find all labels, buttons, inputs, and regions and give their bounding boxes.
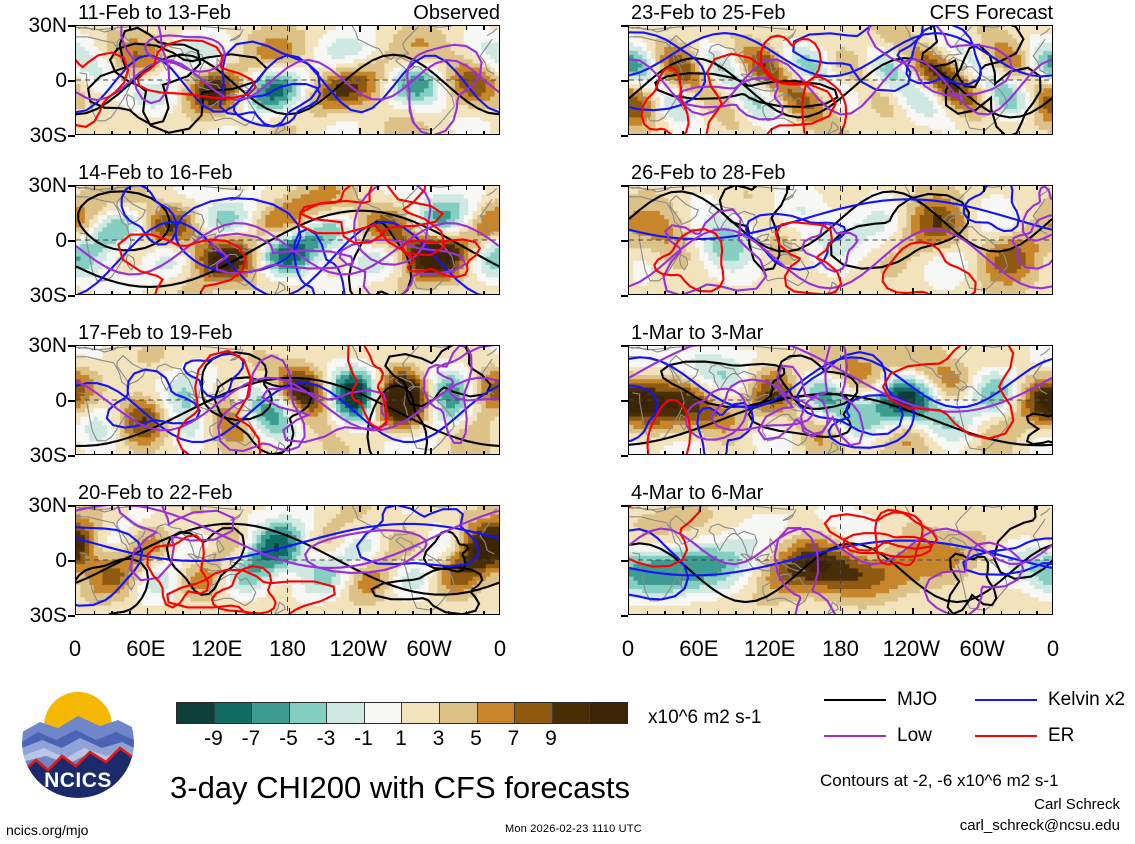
axis-tick [806,26,808,30]
axis-tick [200,186,202,190]
axis-tick [253,291,255,295]
axis-tick [771,128,773,134]
contour-note: Contours at -2, -6 x10^6 m2 s-1 [820,772,1059,789]
axis-tick [377,611,379,615]
axis-tick [965,26,967,30]
axis-tick [448,506,450,510]
axis-tick [824,186,826,190]
axis-tick [306,451,308,455]
axis-tick [948,451,950,455]
axis-tick [448,291,450,295]
axis-tick [111,26,113,30]
axis-tick [412,26,414,30]
axis-tick [771,346,773,352]
axis-tick [253,346,255,350]
axis-tick [824,451,826,455]
axis-tick [129,131,131,135]
axis-tick [448,26,450,30]
axis-tick [182,611,184,615]
axis-tick [430,506,432,512]
axis-tick [377,506,379,510]
axis-tick [289,506,291,512]
axis-tick [895,26,897,30]
axis-tick [412,346,414,350]
axis-tick [948,26,950,30]
map-canvas [75,505,500,615]
colorbar-cell [177,703,215,723]
axis-tick [664,291,666,295]
axis-tick [412,291,414,295]
axis-tick [147,608,149,614]
axis-tick [377,291,379,295]
axis-tick [342,346,344,350]
axis-tick [448,131,450,135]
axis-tick [983,346,985,352]
legend-line-swatch [975,735,1037,737]
axis-tick [165,346,167,350]
axis-tick [483,506,485,510]
axis-tick [306,291,308,295]
axis-tick [621,560,628,562]
axis-tick [359,346,361,352]
axis-tick [788,451,790,455]
axis-tick [621,345,628,347]
x-axis-label: 0 [588,638,668,660]
axis-tick [235,131,237,135]
axis-tick [700,608,702,614]
axis-tick [1001,451,1003,455]
axis-tick [111,291,113,295]
axis-tick [235,291,237,295]
axis-tick [165,611,167,615]
axis-tick [200,291,202,295]
axis-tick [682,26,684,30]
axis-tick [271,346,273,350]
axis-tick [912,608,914,614]
axis-tick [621,135,628,137]
axis-tick [753,291,755,295]
axis-tick [111,186,113,190]
axis-tick [621,505,628,507]
axis-tick [753,346,755,350]
axis-tick [412,131,414,135]
ncics-logo[interactable]: NCICS [22,686,134,798]
axis-tick [806,611,808,615]
axis-tick [448,186,450,190]
axis-tick [412,611,414,615]
axis-tick [621,240,628,242]
axis-tick [700,506,702,512]
axis-tick [182,451,184,455]
axis-tick [842,448,844,454]
main-title: 3-day CHI200 with CFS forecasts [170,772,630,803]
legend-item: Low [824,726,932,745]
axis-tick [1036,451,1038,455]
axis-tick [735,291,737,295]
axis-tick [430,26,432,32]
colorbar-cell [590,703,627,723]
colorbar-units-label: x10^6 m2 s-1 [648,708,761,727]
axis-tick [68,615,75,617]
axis-tick [448,451,450,455]
axis-tick [306,131,308,135]
axis-tick [788,346,790,350]
axis-tick [1019,346,1021,350]
axis-tick [788,186,790,190]
axis-tick [1019,291,1021,295]
axis-tick [466,26,468,30]
axis-tick [700,26,702,32]
axis-tick [94,131,96,135]
axis-tick [377,346,379,350]
axis-tick [359,506,361,512]
axis-tick [718,451,720,455]
axis-tick [182,26,184,30]
axis-tick [753,186,755,190]
axis-tick [111,611,113,615]
axis-tick [700,128,702,134]
axis-tick [289,448,291,454]
axis-tick [842,26,844,32]
map-panel: 4-Mar to 6-Mar [628,483,1053,615]
axis-tick [466,506,468,510]
axis-tick [718,506,720,510]
shaded-anomaly-field [629,506,1052,614]
x-axis-label: 120E [177,638,257,660]
x-axis-label: 60W [942,638,1022,660]
axis-tick [94,291,96,295]
axis-tick [324,611,326,615]
axis-tick [395,26,397,30]
axis-tick [466,186,468,190]
legend-label: MJO [897,690,937,709]
axis-tick [930,506,932,510]
axis-tick [430,448,432,454]
axis-tick [877,291,879,295]
shaded-anomaly-field [76,346,499,454]
x-axis-label: 180 [248,638,328,660]
axis-tick [483,186,485,190]
axis-tick [94,506,96,510]
axis-tick [930,291,932,295]
y-axis-label: 30S [3,125,67,146]
axis-tick [824,611,826,615]
axis-tick [395,611,397,615]
axis-tick [129,186,131,190]
colorbar-cell [252,703,290,723]
axis-tick [218,448,220,454]
axis-tick [682,131,684,135]
axis-tick [771,186,773,192]
axis-tick [306,26,308,30]
axis-tick [895,291,897,295]
axis-tick [306,186,308,190]
axis-tick [1001,131,1003,135]
axis-tick [912,448,914,454]
map-panel: 14-Feb to 16-Feb30N030S [75,163,500,295]
axis-tick [289,128,291,134]
axis-tick [842,346,844,352]
axis-tick [342,186,344,190]
axis-tick [111,131,113,135]
axis-tick [735,26,737,30]
axis-tick [289,26,291,32]
axis-tick [129,291,131,295]
axis-tick [1036,26,1038,30]
axis-tick [877,611,879,615]
axis-tick [877,186,879,190]
axis-tick [735,186,737,190]
axis-tick [824,26,826,30]
axis-tick [682,506,684,510]
axis-tick [324,506,326,510]
axis-tick [788,291,790,295]
axis-tick [948,506,950,510]
axis-tick [647,291,649,295]
axis-tick [912,128,914,134]
axis-tick [700,346,702,352]
axis-tick [68,25,75,27]
axis-tick [965,451,967,455]
panel-title: 23-Feb to 25-Feb [631,3,786,23]
x-axis-label: 180 [801,638,881,660]
axis-tick [621,400,628,402]
axis-tick [824,291,826,295]
axis-tick [842,608,844,614]
axis-tick [324,26,326,30]
colorbar-cell [290,703,328,723]
axis-tick [165,131,167,135]
site-url-link[interactable]: ncics.org/mjo [6,823,88,837]
y-axis-label: 30S [3,285,67,306]
axis-tick [235,506,237,510]
axis-tick [395,291,397,295]
axis-tick [859,506,861,510]
axis-tick [877,346,879,350]
axis-tick [895,346,897,350]
axis-tick [200,346,202,350]
axis-tick [324,346,326,350]
axis-tick [289,608,291,614]
axis-tick [165,291,167,295]
axis-tick [824,346,826,350]
axis-tick [448,611,450,615]
axis-tick [1001,611,1003,615]
axis-tick [1001,26,1003,30]
axis-tick [342,506,344,510]
axis-tick [718,131,720,135]
x-axis-label: 60E [106,638,186,660]
axis-tick [68,455,75,457]
axis-tick [700,186,702,192]
axis-tick [289,288,291,294]
axis-tick [859,186,861,190]
legend-label: ER [1048,726,1074,745]
axis-tick [718,291,720,295]
axis-tick [1019,26,1021,30]
axis-tick [68,400,75,402]
axis-tick [68,240,75,242]
axis-tick [842,288,844,294]
panel-title: 20-Feb to 22-Feb [78,483,233,503]
axis-tick [664,611,666,615]
axis-tick [218,608,220,614]
axis-tick [877,506,879,510]
axis-tick [483,451,485,455]
axis-tick [1019,186,1021,190]
axis-tick [877,131,879,135]
axis-tick [948,291,950,295]
axis-tick [983,506,985,512]
axis-tick [983,26,985,32]
axis-tick [235,611,237,615]
axis-tick [483,131,485,135]
axis-tick [147,506,149,512]
axis-tick [68,295,75,297]
axis-tick [735,451,737,455]
axis-tick [271,611,273,615]
axis-tick [94,26,96,30]
axis-tick [466,346,468,350]
axis-tick [771,506,773,512]
author-email: carl_schreck@ncsu.edu [860,818,1120,833]
axis-tick [965,131,967,135]
axis-tick [753,131,755,135]
y-axis-label: 0 [3,550,67,571]
axis-tick [147,128,149,134]
axis-tick [430,186,432,192]
x-axis-label: 120W [318,638,398,660]
axis-tick [359,26,361,32]
axis-tick [930,611,932,615]
author-name: Carl Schreck [900,797,1120,812]
axis-tick [430,346,432,352]
axis-tick [682,186,684,190]
axis-tick [324,186,326,190]
axis-tick [235,451,237,455]
axis-tick [983,448,985,454]
axis-tick [147,186,149,192]
axis-tick [682,346,684,350]
axis-tick [842,186,844,192]
axis-tick [68,185,75,187]
axis-tick [1001,186,1003,190]
axis-tick [806,186,808,190]
axis-tick [94,451,96,455]
axis-tick [271,451,273,455]
axis-tick [182,186,184,190]
axis-tick [165,26,167,30]
x-axis-label: 0 [35,638,115,660]
axis-tick [412,451,414,455]
axis-tick [182,506,184,510]
axis-tick [235,186,237,190]
map-canvas [628,185,1053,295]
axis-tick [218,186,220,192]
x-axis-label: 120E [730,638,810,660]
axis-tick [806,131,808,135]
x-axis-label: 60W [389,638,469,660]
legend-line-swatch [824,735,886,737]
axis-tick [664,451,666,455]
legend-line-swatch [975,699,1037,701]
axis-tick [94,186,96,190]
map-panel: 1-Mar to 3-Mar [628,323,1053,455]
legend-item: ER [975,726,1074,745]
axis-tick [359,448,361,454]
axis-tick [1019,506,1021,510]
axis-tick [735,346,737,350]
axis-tick [165,451,167,455]
axis-tick [253,451,255,455]
shaded-anomaly-field [629,186,1052,294]
axis-tick [430,608,432,614]
axis-tick [483,291,485,295]
axis-tick [359,128,361,134]
axis-tick [342,451,344,455]
axis-tick [218,506,220,512]
axis-tick [664,131,666,135]
axis-tick [1036,291,1038,295]
axis-tick [68,135,75,137]
axis-tick [218,26,220,32]
shaded-anomaly-field [76,186,499,294]
axis-tick [859,346,861,350]
x-axis-label: 60E [659,638,739,660]
axis-tick [877,26,879,30]
x-axis-label: 120W [871,638,951,660]
axis-tick [395,451,397,455]
axis-tick [664,186,666,190]
y-axis-label: 30N [3,335,67,356]
axis-tick [218,128,220,134]
axis-tick [965,186,967,190]
axis-tick [621,455,628,457]
colorbar-cell [215,703,253,723]
axis-tick [253,186,255,190]
axis-tick [788,506,790,510]
colorbar-cell [440,703,478,723]
axis-tick [342,611,344,615]
legend-label: Kelvin x2 [1048,690,1125,709]
axis-tick [377,131,379,135]
axis-tick [395,346,397,350]
axis-tick [129,611,131,615]
y-axis-label: 30S [3,445,67,466]
axis-tick [448,346,450,350]
axis-tick [1036,506,1038,510]
axis-tick [842,506,844,512]
axis-tick [983,128,985,134]
axis-tick [182,291,184,295]
axis-tick [682,291,684,295]
axis-tick [983,608,985,614]
axis-tick [412,506,414,510]
axis-tick [1001,346,1003,350]
axis-tick [859,451,861,455]
axis-tick [253,611,255,615]
map-panel: 23-Feb to 25-FebCFS Forecast [628,3,1053,135]
axis-tick [395,131,397,135]
axis-tick [342,26,344,30]
axis-tick [965,346,967,350]
axis-tick [306,346,308,350]
legend-line-swatch [824,699,886,701]
axis-tick [753,26,755,30]
axis-tick [182,131,184,135]
y-axis-label: 30N [3,15,67,36]
axis-tick [94,346,96,350]
